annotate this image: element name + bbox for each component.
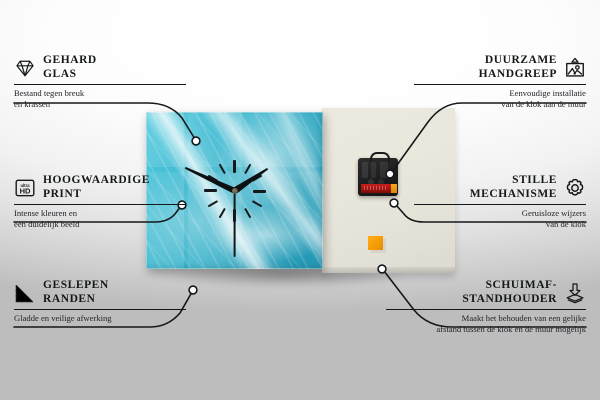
callout-hoogwaardige-print: ultra HD HOOGWAARDIGE PRINT Intense kleu… [14, 174, 186, 230]
callout-head: STILLE MECHANISME [414, 174, 586, 201]
callout-rule [414, 204, 586, 205]
arrow-down-pad-icon [564, 282, 586, 304]
callout-head: DUURZAME HANDGREEP [414, 54, 586, 81]
battery-label [364, 186, 386, 190]
gear-icon [564, 177, 586, 199]
framed-picture-icon [564, 57, 586, 79]
callout-title: GESLEPEN RANDEN [43, 279, 109, 306]
movement-embossing [362, 162, 394, 178]
foam-spacer-pad [368, 236, 383, 250]
callout-stille-mechanisme: STILLE MECHANISME Geruisloze wijzers van… [414, 174, 586, 230]
callout-title: SCHUIMAF- STANDHOUDER [462, 279, 557, 306]
clock-center-cap [232, 188, 238, 194]
beveled-edge-icon [14, 282, 36, 304]
callout-title: STILLE MECHANISME [470, 174, 557, 201]
callout-rule [14, 309, 186, 310]
callout-description: Geruisloze wijzers van de klok [414, 208, 586, 229]
callout-title: HOOGWAARDIGE PRINT [43, 174, 150, 201]
hanger-loop-icon [370, 152, 390, 162]
callout-rule [414, 84, 586, 85]
ultra-hd-icon: ultra HD [14, 177, 36, 199]
callout-description: Maakt het behouden van een gelijke afsta… [386, 313, 586, 334]
callout-head: SCHUIMAF- STANDHOUDER [386, 279, 586, 306]
battery-positive-terminal [391, 184, 397, 193]
callout-head: ultra HD HOOGWAARDIGE PRINT [14, 174, 186, 201]
clock-second-hand [234, 191, 236, 257]
callout-gehard-glas: GEHARD GLAS Bestand tegen breuk en krass… [14, 54, 186, 110]
callout-schuimafstandhouder: SCHUIMAF- STANDHOUDER Maakt het behouden… [386, 279, 586, 335]
callout-title: DUURZAME HANDGREEP [479, 54, 557, 81]
callout-head: GESLEPEN RANDEN [14, 279, 186, 306]
callout-description: Intense kleuren en een duidelijk beeld [14, 208, 186, 229]
callout-title: GEHARD GLAS [43, 54, 97, 81]
quartz-movement [358, 158, 398, 196]
callout-description: Bestand tegen breuk en krassen [14, 88, 186, 109]
diamond-icon [14, 57, 36, 79]
callout-rule [386, 309, 586, 310]
callout-geslepen-randen: GESLEPEN RANDEN Gladde en veilige afwerk… [14, 279, 186, 324]
callout-head: GEHARD GLAS [14, 54, 186, 81]
infographic-canvas: GEHARD GLAS Bestand tegen breuk en krass… [0, 0, 600, 400]
svg-text:HD: HD [20, 186, 31, 195]
callout-duurzame-handgreep: DUURZAME HANDGREEP Eenvoudige installati… [414, 54, 586, 110]
callout-description: Gladde en veilige afwerking [14, 313, 186, 324]
callout-description: Eenvoudige installatie van de klok aan d… [414, 88, 586, 109]
battery [361, 184, 395, 193]
callout-rule [14, 84, 186, 85]
callout-rule [14, 204, 186, 205]
